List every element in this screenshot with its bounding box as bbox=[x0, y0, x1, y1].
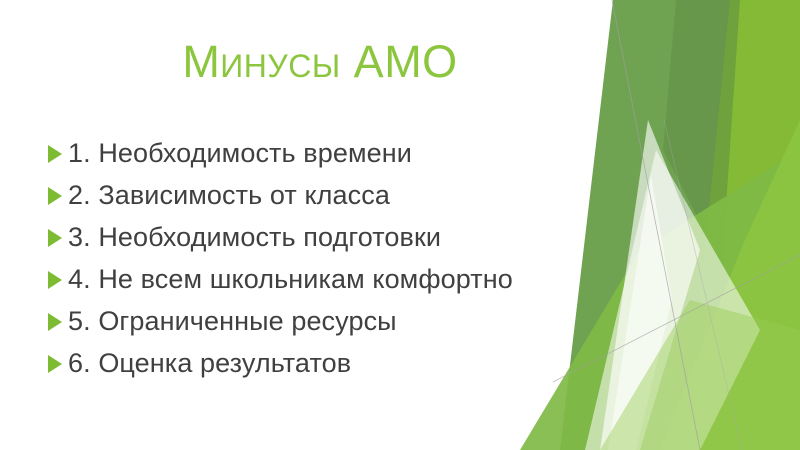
title-block: Минусы АМО bbox=[60, 38, 580, 85]
slide-canvas: Минусы АМО 1. Необходимость времени 2. З… bbox=[0, 0, 800, 450]
list-item-label: 5. Ограниченные ресурсы bbox=[68, 306, 397, 337]
list-item: 5. Ограниченные ресурсы bbox=[48, 300, 608, 342]
list-item-label: 2. Зависимость от класса bbox=[68, 180, 390, 211]
list-item-label: 4. Не всем школьникам комфортно bbox=[68, 264, 513, 295]
facet-shape-bright-right bbox=[640, 0, 800, 450]
list-item: 6. Оценка результатов bbox=[48, 342, 608, 384]
facet-shape-light-overlay bbox=[600, 300, 800, 450]
triangle-bullet-icon bbox=[48, 313, 62, 331]
page-title: Минусы АМО bbox=[60, 38, 580, 85]
list-item: 1. Необходимость времени bbox=[48, 132, 608, 174]
triangle-bullet-icon bbox=[48, 355, 62, 373]
list-item: 3. Необходимость подготовки bbox=[48, 216, 608, 258]
facet-shape-dark-wedge bbox=[663, 0, 740, 265]
triangle-bullet-icon bbox=[48, 187, 62, 205]
list-item: 4. Не всем школьникам комфортно bbox=[48, 258, 608, 300]
facet-shape-palest-highlight bbox=[608, 175, 672, 450]
facet-hairline-steep bbox=[612, 0, 700, 450]
bullet-list: 1. Необходимость времени 2. Зависимость … bbox=[48, 132, 608, 384]
list-item: 2. Зависимость от класса bbox=[48, 174, 608, 216]
list-item-label: 3. Необходимость подготовки bbox=[68, 222, 441, 253]
triangle-bullet-icon bbox=[48, 229, 62, 247]
list-item-label: 1. Необходимость времени bbox=[68, 138, 412, 169]
facet-hairline-secondary bbox=[664, 120, 742, 450]
facet-shape-pale-triangle bbox=[585, 150, 760, 450]
list-item-label: 6. Оценка результатов bbox=[68, 348, 351, 379]
triangle-bullet-icon bbox=[48, 145, 62, 163]
facet-shape-bright-bottom bbox=[660, 120, 800, 450]
facet-shape-pale-sliver bbox=[600, 120, 700, 450]
triangle-bullet-icon bbox=[48, 271, 62, 289]
